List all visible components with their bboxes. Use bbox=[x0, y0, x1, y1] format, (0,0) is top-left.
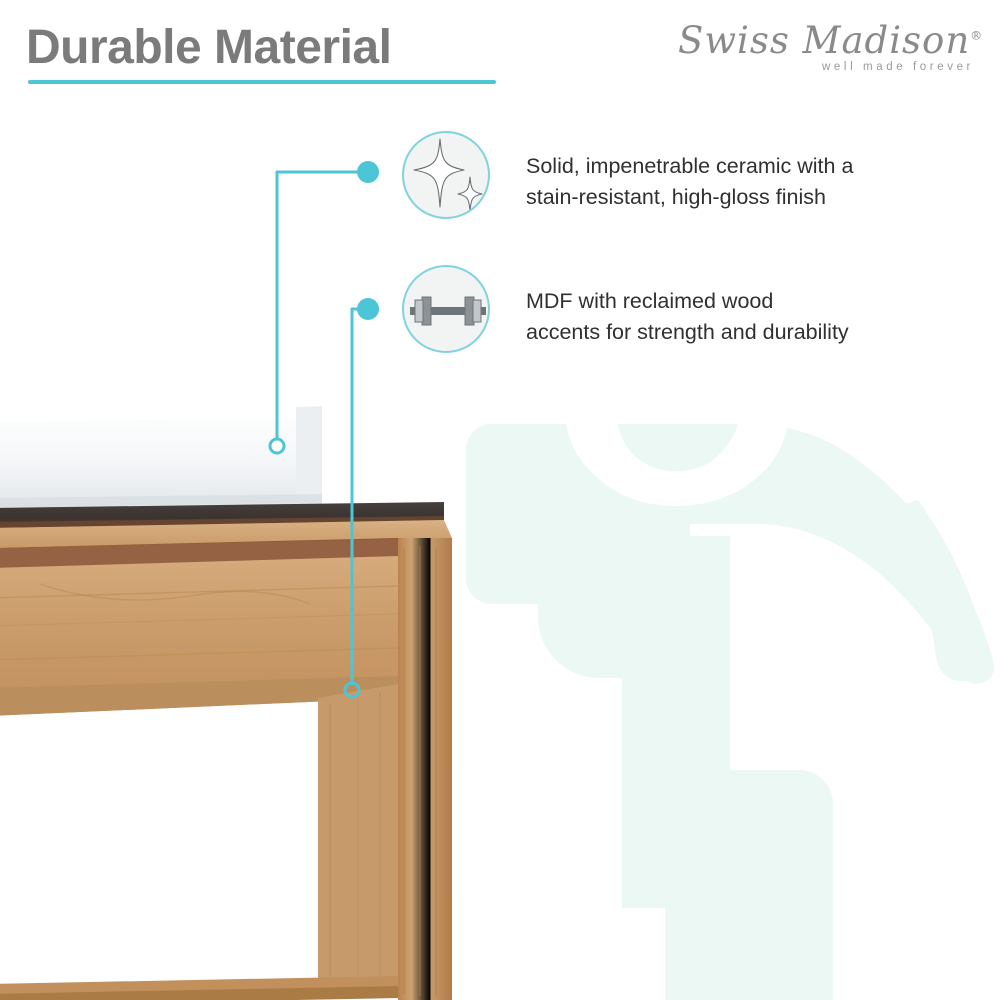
hammer-icon bbox=[466, 424, 994, 1000]
sparkle-shine-icon bbox=[404, 133, 490, 219]
callout-dot-filled-2 bbox=[357, 298, 379, 320]
registered-trademark-mark: ® bbox=[970, 29, 983, 43]
feature-text-line-2: accents for strength and durability bbox=[526, 317, 946, 348]
title-underline-accent bbox=[28, 80, 496, 84]
feature-text-line-1: MDF with reclaimed wood bbox=[526, 286, 946, 317]
brand-name-text: Swiss Madison bbox=[678, 19, 970, 62]
product-photo bbox=[0, 398, 470, 1000]
callout-dot-filled-1 bbox=[357, 161, 379, 183]
header: Durable Material Swiss Madison® well mad… bbox=[0, 0, 1000, 110]
feature-text-wood: MDF with reclaimed wood accents for stre… bbox=[526, 286, 946, 347]
brand-name-wordmark: Swiss Madison® bbox=[678, 22, 983, 59]
feature-text-line-2: stain-resistant, high-gloss finish bbox=[526, 182, 946, 213]
wood-bottom-shelf bbox=[0, 976, 398, 1000]
page-title: Durable Material bbox=[26, 22, 391, 75]
dumbbell-strength-icon bbox=[404, 267, 490, 353]
feature-icon-circle-1 bbox=[402, 131, 490, 219]
feature-icon-circle-2 bbox=[402, 265, 490, 353]
feature-text-ceramic: Solid, impenetrable ceramic with a stain… bbox=[526, 151, 946, 212]
wood-apron-rail bbox=[0, 556, 398, 716]
brand-logo[interactable]: Swiss Madison® well made forever bbox=[678, 22, 978, 92]
infographic-canvas: Durable Material Swiss Madison® well mad… bbox=[0, 0, 1000, 1000]
brand-tagline: well made forever bbox=[678, 61, 974, 73]
ceramic-vessel-sink bbox=[0, 406, 322, 510]
feature-text-line-1: Solid, impenetrable ceramic with a bbox=[526, 151, 946, 182]
